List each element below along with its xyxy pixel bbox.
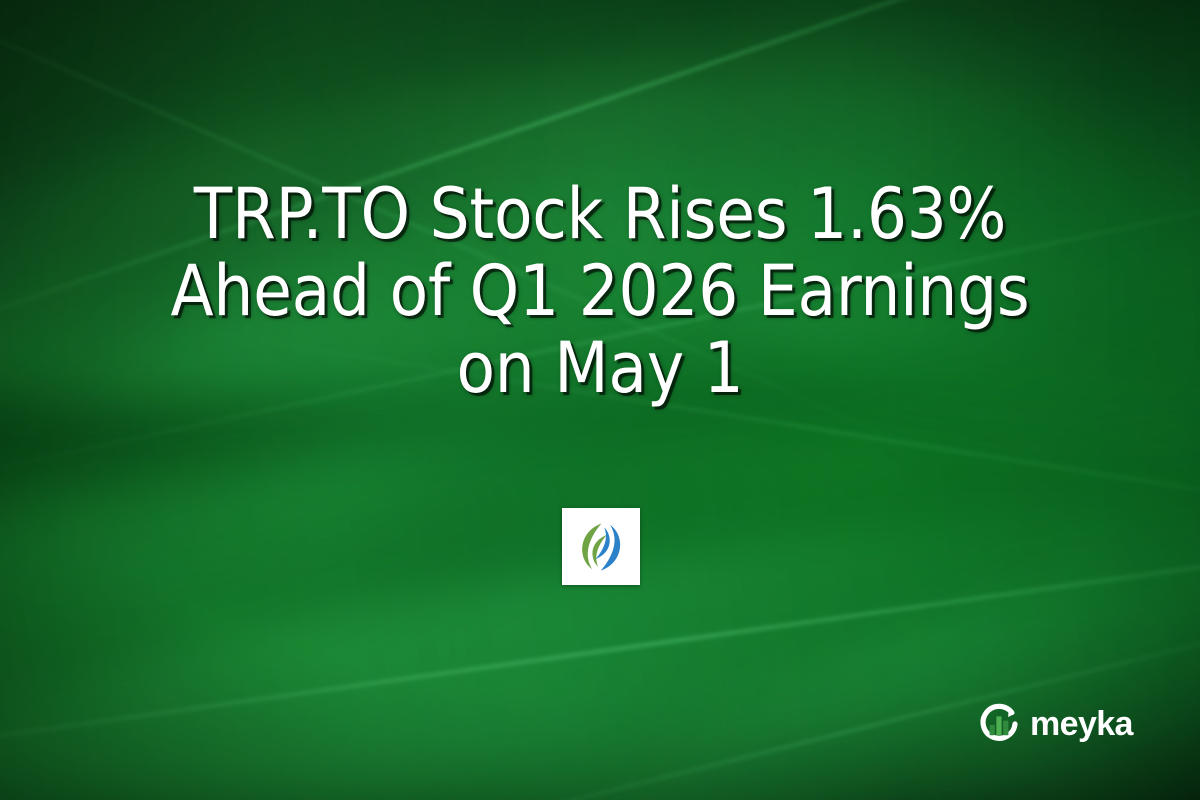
- card-content: TRP.TO Stock Rises 1.63% Ahead of Q1 202…: [0, 0, 1200, 800]
- brand-name-label: meyka: [1030, 707, 1133, 741]
- dual-arc-sphere-icon: [571, 517, 631, 577]
- headline-title: TRP.TO Stock Rises 1.63% Ahead of Q1 202…: [60, 176, 1140, 407]
- share-card-canvas: TRP.TO Stock Rises 1.63% Ahead of Q1 202…: [0, 0, 1200, 800]
- meyka-ring-barchart-icon: [975, 700, 1023, 748]
- company-logo: [562, 508, 640, 585]
- brand-watermark: meyka: [975, 700, 1133, 748]
